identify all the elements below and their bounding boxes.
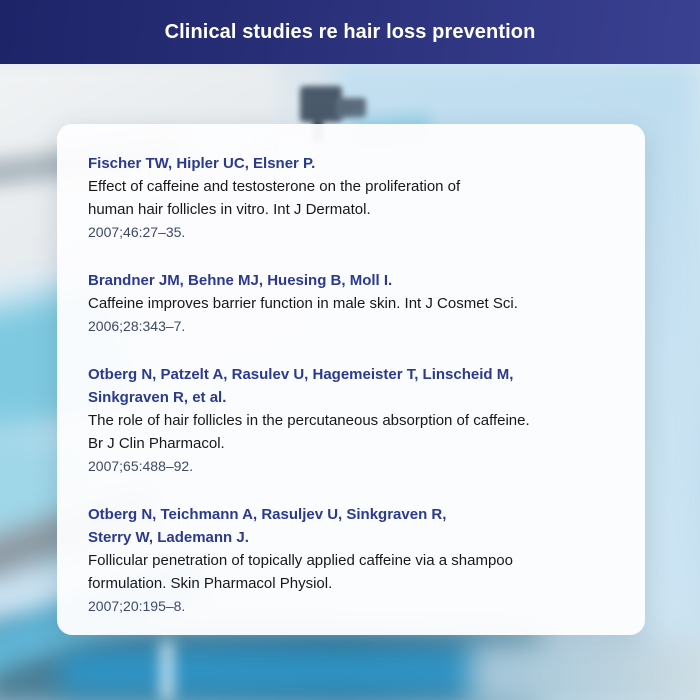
background-microscope-objective (336, 98, 366, 118)
citation-reference: 2006;28:343–7. (88, 315, 611, 338)
citation-title: Effect of caffeine and testosterone on t… (88, 175, 611, 221)
citation-authors: Otberg N, Teichmann A, Rasuljev U, Sinkg… (88, 503, 611, 549)
citation-item: Fischer TW, Hipler UC, Elsner P. Effect … (88, 152, 611, 244)
page-title: Clinical studies re hair loss prevention (165, 21, 536, 44)
background-highlight-streak (160, 640, 174, 700)
citation-reference: 2007;20:195–8. (88, 595, 611, 618)
citation-item: Otberg N, Teichmann A, Rasuljev U, Sinkg… (88, 503, 611, 618)
background-bench-right (470, 640, 700, 700)
citation-item: Brandner JM, Behne MJ, Huesing B, Moll I… (88, 269, 611, 338)
citation-title: Follicular penetration of topically appl… (88, 549, 611, 595)
background-bench-slab (60, 648, 490, 694)
citation-item: Otberg N, Patzelt A, Rasulev U, Hagemeis… (88, 363, 611, 478)
references-card: Fischer TW, Hipler UC, Elsner P. Effect … (57, 124, 645, 635)
citation-reference: 2007;65:488–92. (88, 455, 611, 478)
citation-authors: Brandner JM, Behne MJ, Huesing B, Moll I… (88, 269, 611, 292)
citation-title: The role of hair follicles in the percut… (88, 409, 611, 455)
citation-authors: Otberg N, Patzelt A, Rasulev U, Hagemeis… (88, 363, 611, 409)
screenshot-root: Clinical studies re hair loss prevention… (0, 0, 700, 700)
citation-reference: 2007;46:27–35. (88, 221, 611, 244)
citation-title: Caffeine improves barrier function in ma… (88, 292, 611, 315)
page-header: Clinical studies re hair loss prevention (0, 0, 700, 64)
citation-authors: Fischer TW, Hipler UC, Elsner P. (88, 152, 611, 175)
